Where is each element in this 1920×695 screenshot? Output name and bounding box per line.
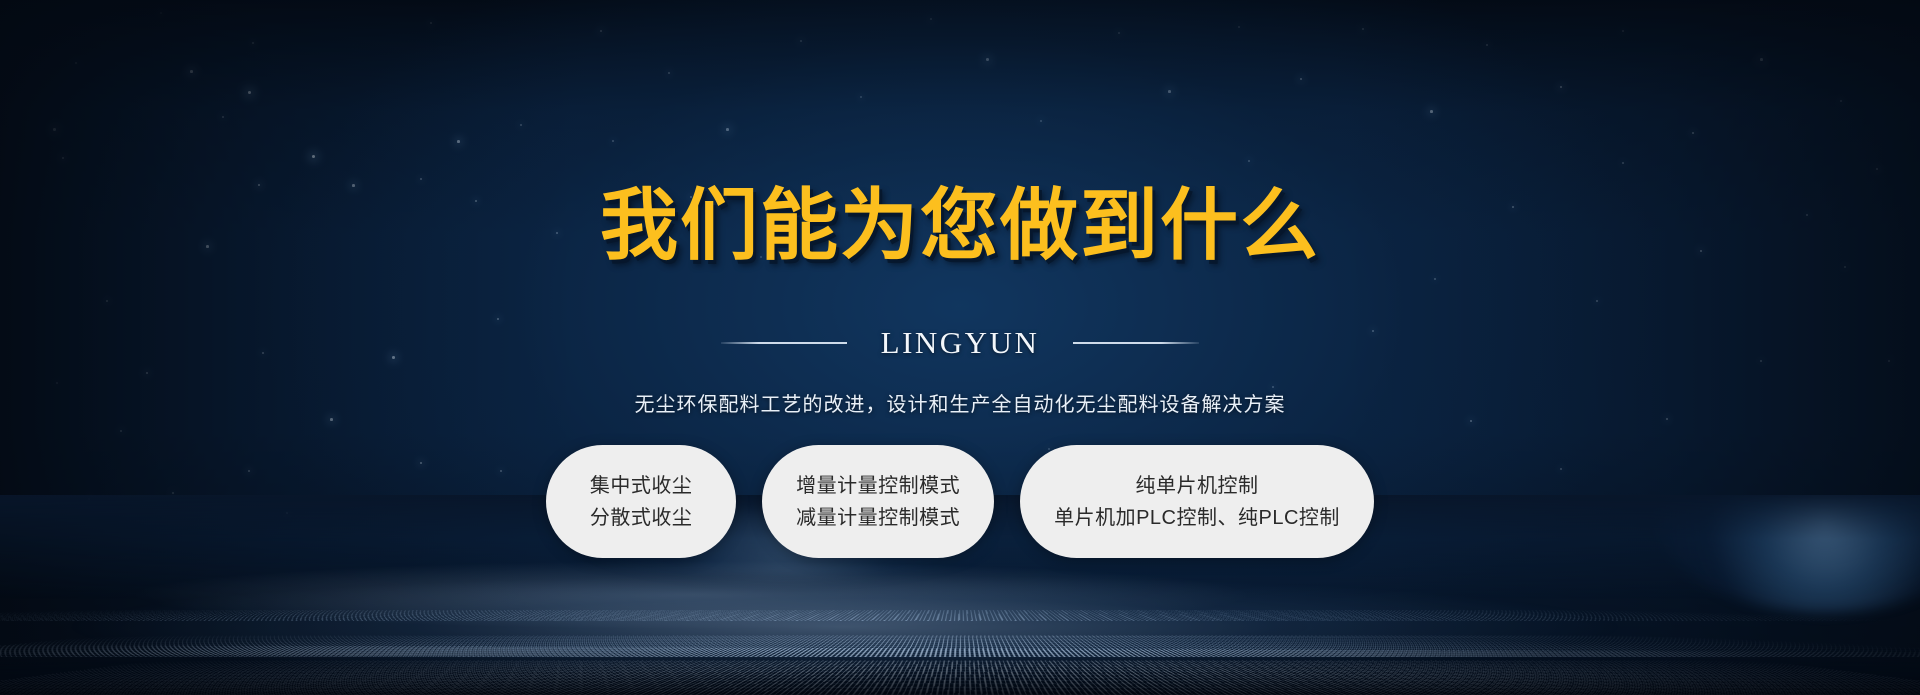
feature-pill-line-1: 集中式收尘: [580, 476, 702, 496]
feature-pill-metering-mode[interactable]: 增量计量控制模式 减量计量控制模式: [762, 445, 994, 558]
feature-pill-line-1: 增量计量控制模式: [796, 476, 960, 496]
brand-subtitle-row: LINGYUN: [0, 325, 1920, 361]
feature-pill-line-2: 分散式收尘: [580, 508, 702, 528]
feature-pill-line-2: 减量计量控制模式: [796, 508, 960, 528]
feature-pill-line-1: 纯单片机控制: [1054, 476, 1340, 496]
hero-banner: 我们能为您做到什么 LINGYUN 无尘环保配料工艺的改进，设计和生产全自动化无…: [0, 0, 1920, 695]
feature-pill-row: 集中式收尘 分散式收尘 增量计量控制模式 减量计量控制模式 纯单片机控制 单片机…: [0, 445, 1920, 558]
divider-left: [721, 342, 847, 344]
feature-pill-line-2: 单片机加PLC控制、纯PLC控制: [1054, 508, 1340, 528]
bottom-fade: [0, 649, 1920, 695]
page-title: 我们能为您做到什么: [0, 186, 1920, 264]
brand-latin-name: LINGYUN: [881, 325, 1040, 361]
feature-pill-dust-collection[interactable]: 集中式收尘 分散式收尘: [546, 445, 736, 558]
feature-pill-control-system[interactable]: 纯单片机控制 单片机加PLC控制、纯PLC控制: [1020, 445, 1374, 558]
divider-right: [1073, 342, 1199, 344]
banner-description: 无尘环保配料工艺的改进，设计和生产全自动化无尘配料设备解决方案: [0, 388, 1920, 417]
